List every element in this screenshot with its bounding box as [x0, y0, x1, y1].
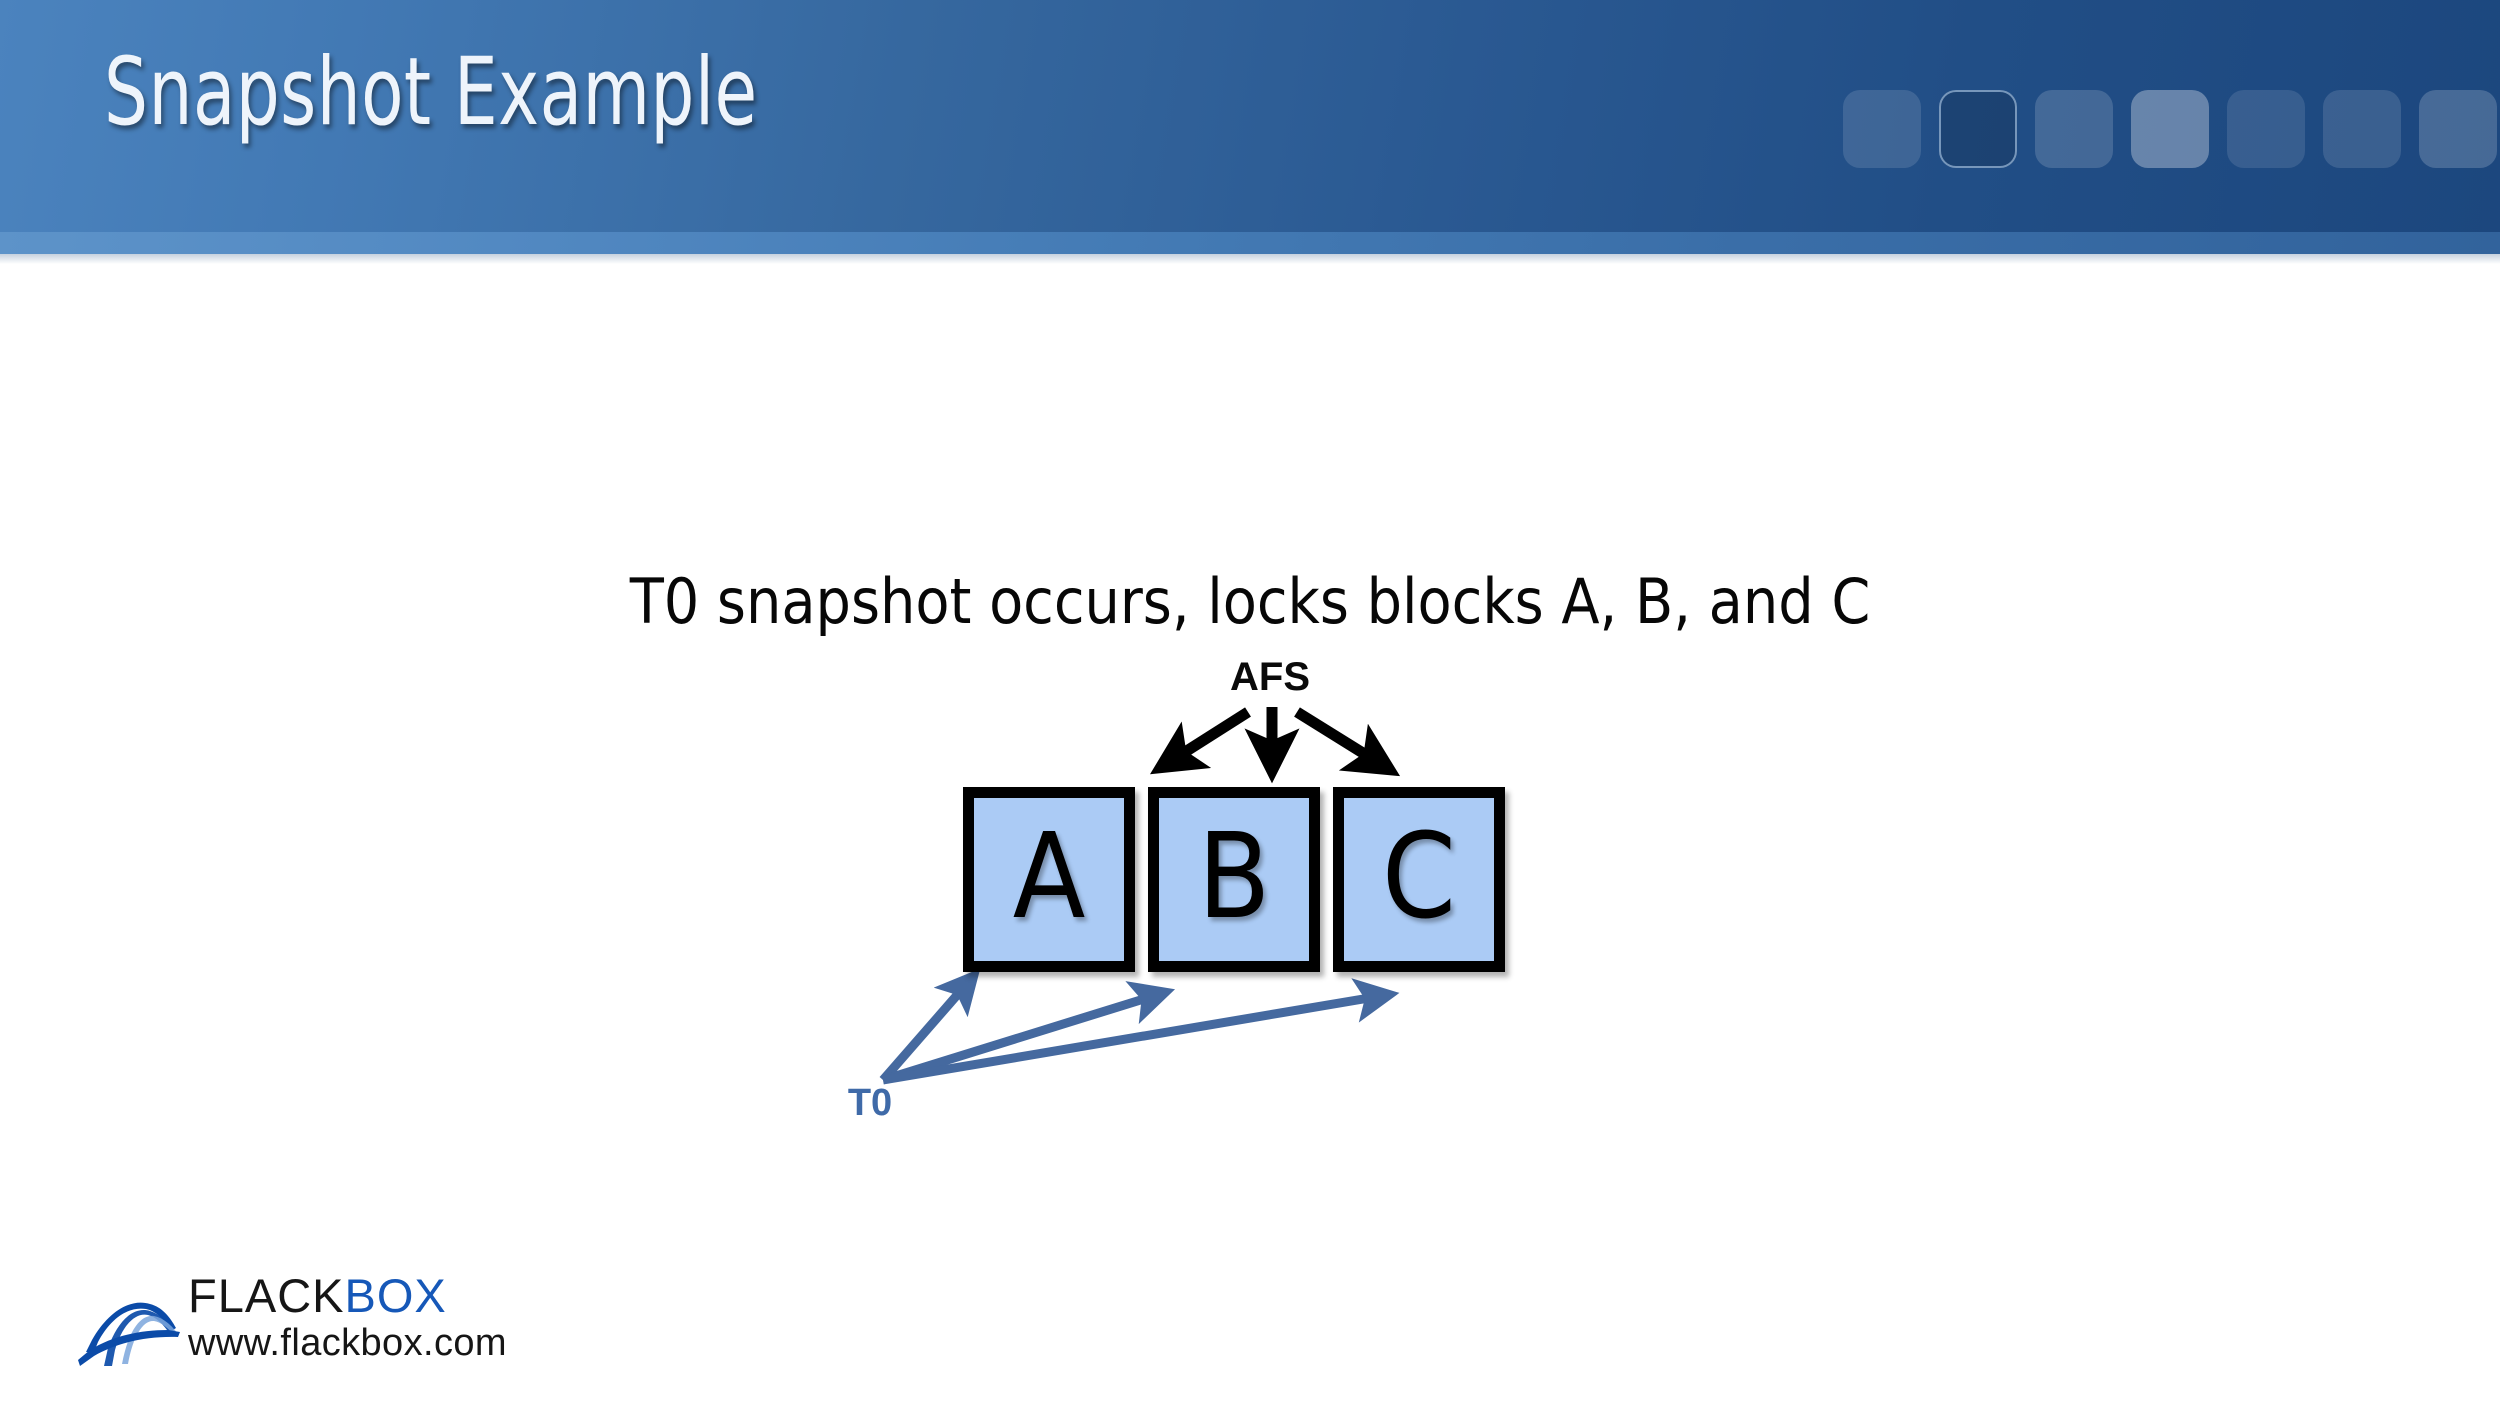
- slide-caption-text: T0 snapshot occurs, locks blocks A, B, a…: [0, 565, 2500, 638]
- header-square-7: [2419, 90, 2497, 168]
- logo-word-box: BOX: [345, 1269, 447, 1322]
- header-square-6: [2323, 90, 2401, 168]
- block-row: A B C: [963, 787, 1505, 972]
- header-square-3: [2035, 90, 2113, 168]
- block-c: C: [1333, 787, 1505, 972]
- t0-arrow-to-block-a: [883, 978, 972, 1080]
- block-b-letter: B: [1198, 817, 1271, 935]
- header-square-4: [2131, 90, 2209, 168]
- flackbox-logo: FLACKBOX www.flackbox.com: [78, 1272, 498, 1380]
- block-a: A: [963, 787, 1135, 972]
- afs-arrow-right: [1297, 712, 1387, 768]
- t0-arrow-to-block-c: [883, 995, 1387, 1080]
- header-drop-shadow: [0, 254, 2500, 264]
- header-square-1: [1843, 90, 1921, 168]
- logo-name-line: FLACKBOX: [188, 1272, 507, 1320]
- block-b: B: [1148, 787, 1320, 972]
- slide-title: Snapshot Example: [104, 38, 758, 147]
- afs-arrow-left: [1163, 712, 1248, 766]
- t0-arrow-to-block-b: [883, 993, 1163, 1080]
- block-a-letter: A: [1013, 817, 1086, 935]
- t0-label: T0: [810, 1082, 930, 1125]
- block-c-letter: C: [1382, 817, 1456, 935]
- header-square-5: [2227, 90, 2305, 168]
- logo-word-flack: FLACK: [188, 1269, 345, 1322]
- logo-url-text: www.flackbox.com: [188, 1322, 507, 1365]
- header-lower-band: [0, 232, 2500, 254]
- header-square-2: [1939, 90, 2017, 168]
- header-decorative-squares: [1843, 90, 2497, 168]
- slide-canvas: Snapshot Example T0 snapshot occurs, loc…: [0, 0, 2500, 1406]
- afs-label: AFS: [1180, 655, 1360, 700]
- logo-wordmark: FLACKBOX www.flackbox.com: [188, 1272, 507, 1365]
- bridge-arc-icon: [78, 1278, 183, 1370]
